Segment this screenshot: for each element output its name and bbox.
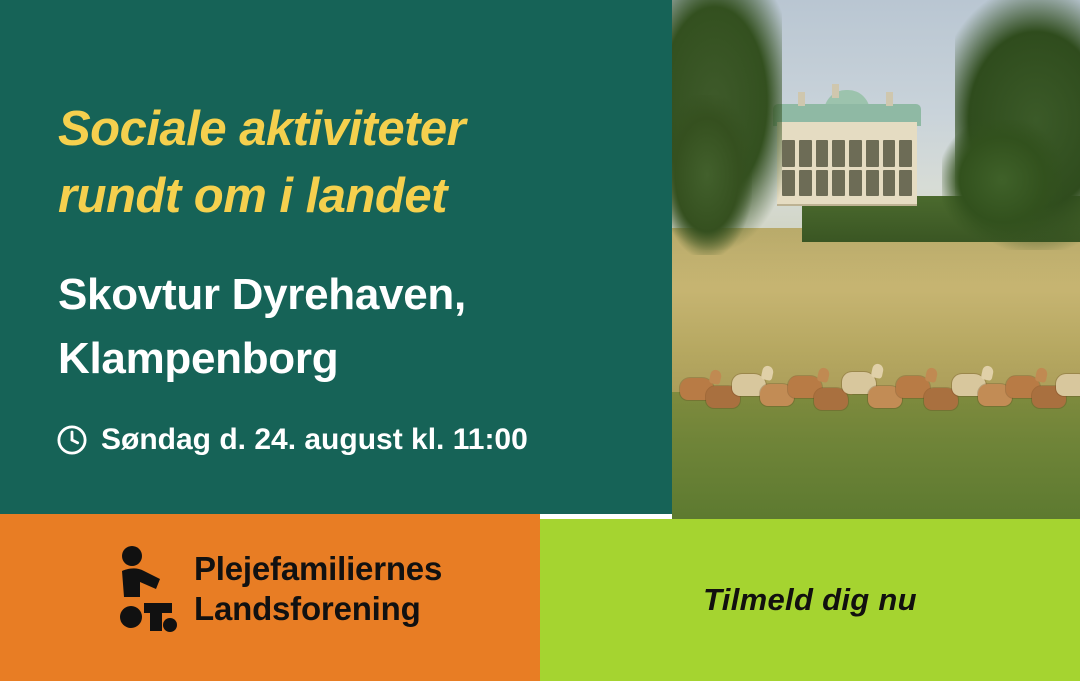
poster-subheading-line2: Klampenborg <box>58 327 658 391</box>
people-logo-icon <box>118 545 180 633</box>
photo-palace-windows <box>782 140 912 196</box>
poster-subheading-line1: Skovtur Dyrehaven, <box>58 270 466 319</box>
organization-name: Plejefamiliernes Landsforening <box>194 549 442 630</box>
event-datetime: Søndag d. 24. august kl. 11:00 <box>57 423 528 457</box>
photo-chimney <box>886 92 893 106</box>
signup-cta-bar[interactable]: Tilmeld dig nu <box>540 519 1080 681</box>
poster-headline-line2: rundt om i landet <box>58 163 658 230</box>
poster-subheading: Skovtur Dyrehaven, Klampenborg <box>58 263 658 391</box>
photo-tree-right-lower <box>942 120 1062 240</box>
organization-name-line2: Landsforening <box>194 589 442 629</box>
organization-logo: Plejefamiliernes Landsforening <box>118 545 442 633</box>
poster-headline-line1: Sociale aktiviteter <box>58 102 465 156</box>
photo-deer <box>814 388 848 410</box>
event-poster: Sociale aktiviteter rundt om i landet Sk… <box>0 0 1080 681</box>
poster-headline: Sociale aktiviteter rundt om i landet <box>58 96 658 229</box>
photo-tree-left-lower <box>672 95 752 255</box>
photo-chimney <box>798 92 805 106</box>
photo-chimney <box>832 84 839 98</box>
event-datetime-text: Søndag d. 24. august kl. 11:00 <box>101 423 528 457</box>
poster-text-panel: Sociale aktiviteter rundt om i landet Sk… <box>0 0 672 514</box>
photo-deer <box>1056 374 1080 396</box>
signup-cta-label[interactable]: Tilmeld dig nu <box>703 582 917 618</box>
photo-deer-herd <box>672 352 1080 424</box>
dyrehaven-photo <box>672 0 1080 519</box>
clock-icon <box>57 425 87 455</box>
poster-top-section: Sociale aktiviteter rundt om i landet Sk… <box>0 0 1080 514</box>
organization-name-line1: Plejefamiliernes <box>194 550 442 587</box>
